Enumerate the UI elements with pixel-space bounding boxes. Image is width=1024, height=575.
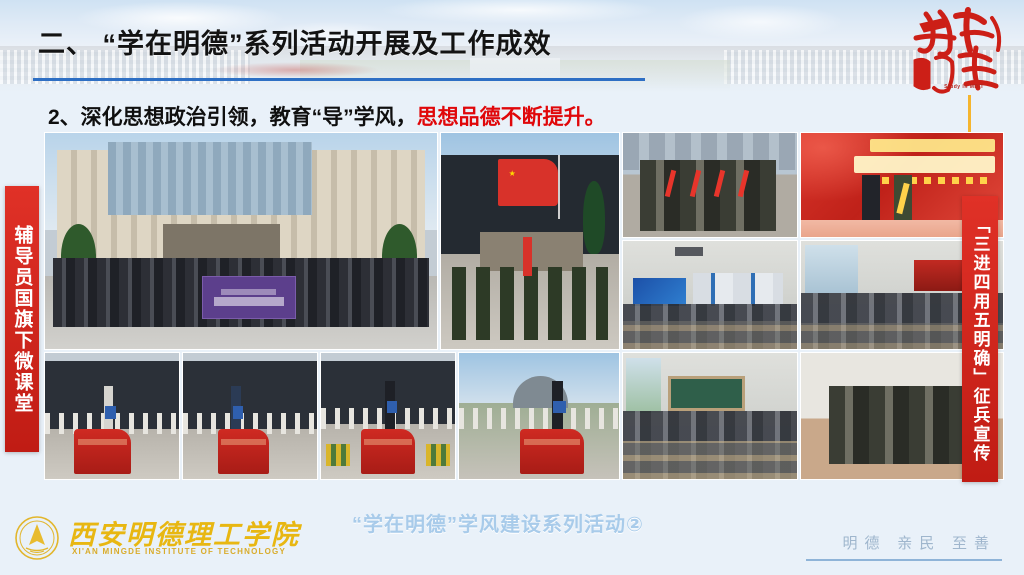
photo-micro-class-podium-4[interactable] [458, 352, 620, 480]
university-logo: 西安明德理工学院 XI'AN MINGDE INSTITUTE OF TECHN… [14, 509, 284, 567]
photo-flag-raising-group-photo[interactable] [44, 132, 438, 350]
section-subtitle: 2、深化思想政治引领，教育“导”学风，思想品德不断提升。 [48, 101, 606, 131]
brand-logo-subtext: Study in MDIT [944, 84, 984, 90]
subtitle-accent-text: 思想品德不断提升。 [417, 106, 606, 129]
footer: 西安明德理工学院 XI'AN MINGDE INSTITUTE OF TECHN… [0, 497, 1024, 575]
banner-right-conscription-campaign[interactable]: 「三进四用五明确」征兵宣传 [962, 196, 998, 482]
photo-micro-class-podium-1[interactable] [44, 352, 180, 480]
header-red-accent [210, 62, 380, 78]
motto-underline [806, 559, 1002, 561]
university-motto: 明德 亲民 至善 [842, 532, 996, 553]
photo-classroom-chalkboard-session[interactable] [622, 352, 798, 480]
university-name-en: XI'AN MINGDE INSTITUTE OF TECHNOLOGY [72, 547, 286, 556]
header-road [470, 58, 560, 92]
photo-new-recruits-send-off[interactable] [622, 132, 798, 238]
photo-collage: ★ [44, 132, 960, 487]
university-emblem-icon [14, 515, 60, 561]
photo-micro-class-podium-2[interactable] [182, 352, 318, 480]
slide-caption: “学在明德”学风建设系列活动② [352, 508, 644, 537]
banner-left-micro-classroom[interactable]: 辅导员国旗下微课堂 [5, 186, 39, 452]
subtitle-normal-text: 2、深化思想政治引领，教育“导”学风， [48, 106, 417, 129]
page-title: 二、 “学在明德”系列活动开展及工作成效 [38, 22, 552, 61]
photo-micro-class-podium-3[interactable] [320, 352, 456, 480]
photo-classroom-lecture-blue-screen[interactable] [622, 240, 798, 350]
presentation-slide: 二、 “学在明德”系列活动开展及工作成效 Study in MDIT [0, 0, 1024, 575]
photo-honor-guard-flag-ceremony[interactable]: ★ [440, 132, 620, 350]
title-underline [33, 78, 645, 81]
